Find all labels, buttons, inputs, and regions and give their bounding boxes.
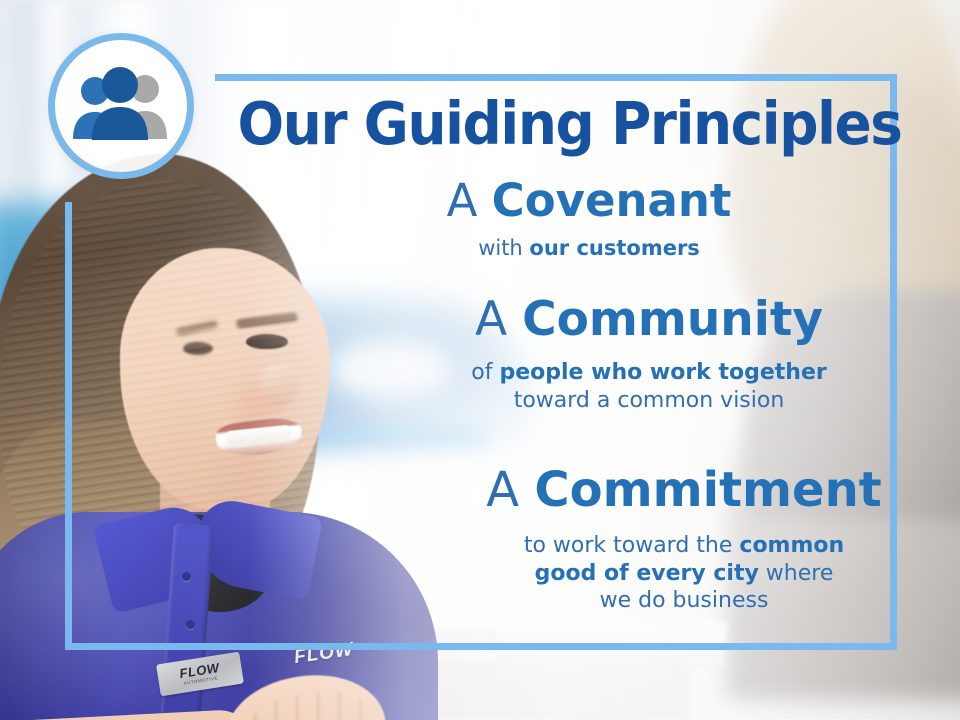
principle-subtext: of people who work togethertoward a comm…: [384, 359, 914, 414]
principle-keyword: Commitment: [534, 462, 881, 518]
principle-commitment: A Commitment to work toward the commongo…: [414, 466, 954, 615]
principle-heading: A Covenant: [354, 178, 824, 225]
principle-keyword: Covenant: [492, 174, 732, 227]
subtext-plain: toward a common vision: [514, 388, 785, 413]
principle-keyword: Community: [522, 292, 823, 347]
principle-article: A: [447, 174, 492, 227]
subtext-plain: we do business: [600, 588, 769, 613]
subtext-emphasis: our customers: [529, 236, 699, 260]
guiding-principles-graphic: FLOW AUTOMOTIVE FLOW: [0, 0, 960, 720]
principle-subtext-line: we do business: [414, 587, 954, 615]
principle-article: A: [486, 462, 534, 518]
principle-covenant: A Covenant with our customers: [354, 178, 824, 261]
subtext-plain: to work toward the: [524, 533, 740, 558]
principle-subtext-line: toward a common vision: [384, 387, 914, 415]
principle-subtext: to work toward the commongood of every c…: [414, 532, 954, 615]
subtext-emphasis: people who work together: [499, 360, 826, 385]
principle-subtext-line: good of every city where: [414, 560, 954, 588]
principle-subtext: with our customers: [354, 235, 824, 261]
principle-subtext-line: of people who work together: [384, 359, 914, 387]
principle-heading: A Community: [384, 296, 914, 345]
principle-community: A Community of people who work togethert…: [384, 296, 914, 414]
principle-subtext-line: with our customers: [354, 235, 824, 261]
principle-heading: A Commitment: [414, 466, 954, 516]
subtext-plain: of: [471, 360, 499, 385]
subtext-plain: where: [759, 561, 834, 586]
principle-article: A: [475, 292, 522, 347]
subtext-plain: with: [478, 236, 529, 260]
people-group-badge: [48, 33, 194, 179]
page-title: Our Guiding Principles: [238, 94, 863, 153]
subtext-emphasis: common: [739, 533, 844, 558]
people-group-icon: [67, 67, 175, 145]
principle-subtext-line: to work toward the common: [414, 532, 954, 560]
subtext-emphasis: good of every city: [535, 561, 759, 586]
